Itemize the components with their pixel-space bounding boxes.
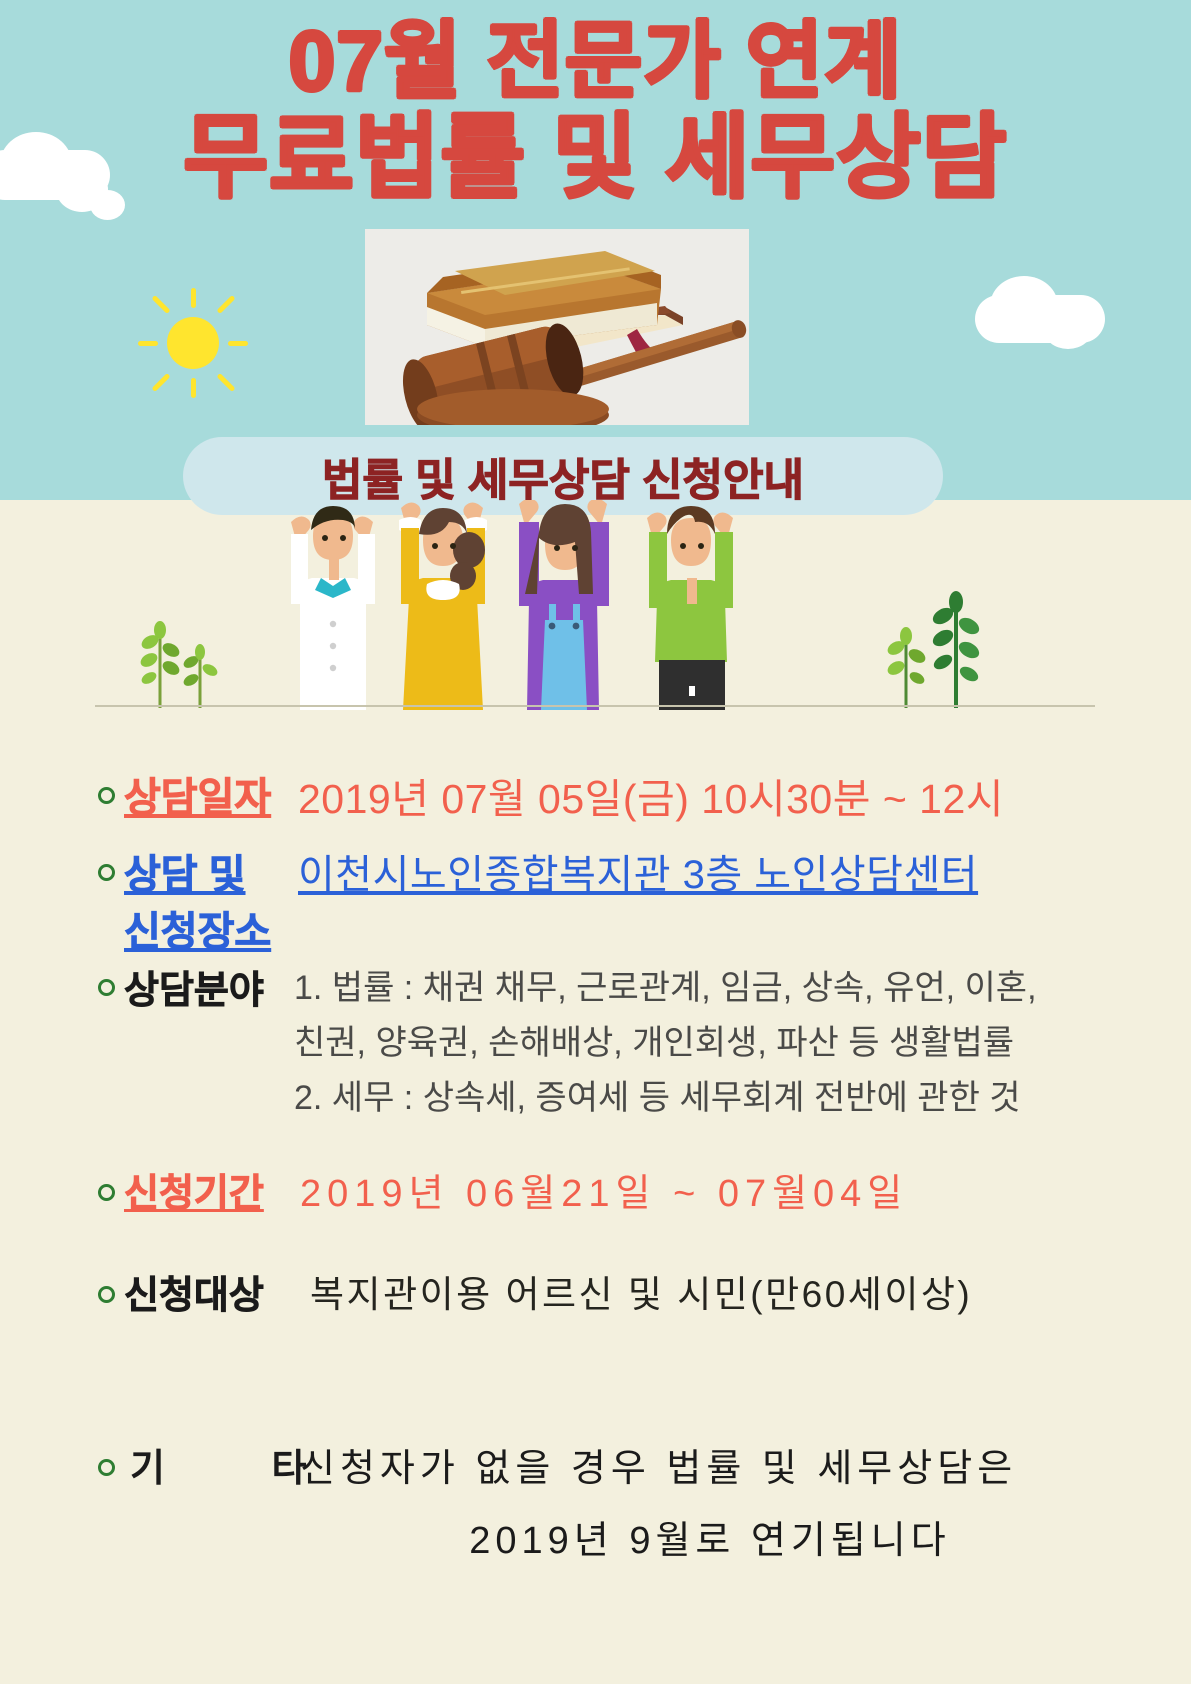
consult-field-value-list: 1. 법률 : 채권 채무, 근로관계, 임금, 상속, 유언, 이혼, 친권,… xyxy=(294,961,1114,1126)
info-row-apply-period: 신청기간 2019년 06월21일 ~ 07월04일 xyxy=(0,1152,1191,1262)
apply-period-label: 신청기간 xyxy=(124,1162,264,1217)
consult-date-value: 2019년 07월 05일(금) 10시30분 ~ 12시 xyxy=(298,765,1004,825)
person-white-shirt xyxy=(291,506,375,710)
gavel-and-books-photo xyxy=(365,229,749,425)
consult-place-label-line1: 상담 및 xyxy=(124,842,246,900)
info-row-consult-date: 상담일자 2019년 07월 05일(금) 10시30분 ~ 12시 xyxy=(0,745,1191,837)
plant-right-icon xyxy=(872,590,992,708)
banner-text: 법률 및 세무상담 신청안내 xyxy=(322,444,804,508)
apply-target-label: 신청대상 xyxy=(124,1264,264,1319)
person-green-shirt xyxy=(647,506,733,710)
apply-target-value: 복지관이용 어르신 및 시민(만60세이상) xyxy=(310,1264,972,1318)
info-row-apply-target: 신청대상 복지관이용 어르신 및 시민(만60세이상) xyxy=(0,1262,1191,1437)
info-list: 상담일자 2019년 07월 05일(금) 10시30분 ~ 12시 상담 및 … xyxy=(0,745,1191,1587)
person-purple-overalls xyxy=(519,500,609,710)
consult-field-line-3: 2. 세무 : 상속세, 증여세 등 세무회계 전반에 관한 것 xyxy=(294,1071,1114,1126)
bullet-circle-icon xyxy=(98,1184,115,1201)
bullet-circle-icon xyxy=(98,787,115,804)
etc-value-line1: 신청자가 없을 경우 법률 및 세무상담은 xyxy=(300,1437,1017,1492)
poster-root: 07월 전문가 연계 무료법률 및 세무상담 xyxy=(0,0,1191,1684)
consult-place-label-line2: 신청장소 xyxy=(124,899,271,957)
title-line-2: 무료법률 및 세무상담 xyxy=(0,111,1191,207)
bullet-circle-icon xyxy=(98,1286,115,1303)
info-row-consult-field: 상담분야 1. 법률 : 채권 채무, 근로관계, 임금, 상속, 유언, 이혼… xyxy=(0,967,1191,1152)
consult-field-line-1: 1. 법률 : 채권 채무, 근로관계, 임금, 상속, 유언, 이혼, xyxy=(294,961,1114,1016)
cheering-people-illustration xyxy=(255,500,875,710)
bullet-circle-icon xyxy=(98,1459,115,1476)
consult-date-label: 상담일자 xyxy=(124,765,271,823)
gavel-books-illustration xyxy=(365,229,749,425)
consult-field-label: 상담분야 xyxy=(124,959,264,1014)
consult-place-value: 이천시노인종합복지관 3층 노인상담센터 xyxy=(298,842,978,900)
bullet-circle-icon xyxy=(98,979,115,996)
etc-value-line2: 2019년 9월로 연기됩니다 xyxy=(330,1509,1090,1564)
title-line-1: 07월 전문가 연계 xyxy=(0,18,1191,105)
apply-period-value: 2019년 06월21일 ~ 07월04일 xyxy=(300,1162,908,1217)
plant-left-icon xyxy=(130,608,240,708)
consult-field-line-2: 친권, 양육권, 손해배상, 개인회생, 파산 등 생활법률 xyxy=(294,1016,1114,1071)
sun-icon xyxy=(138,288,248,398)
bullet-circle-icon xyxy=(98,864,115,881)
poster-title: 07월 전문가 연계 무료법률 및 세무상담 xyxy=(0,18,1191,207)
info-row-consult-place: 상담 및 신청장소 이천시노인종합복지관 3층 노인상담센터 xyxy=(0,837,1191,967)
ground-line xyxy=(95,705,1095,707)
person-yellow-dress xyxy=(399,502,487,710)
info-row-etc: 기 타 신청자가 없을 경우 법률 및 세무상담은 2019년 9월로 연기됩니… xyxy=(0,1437,1191,1587)
